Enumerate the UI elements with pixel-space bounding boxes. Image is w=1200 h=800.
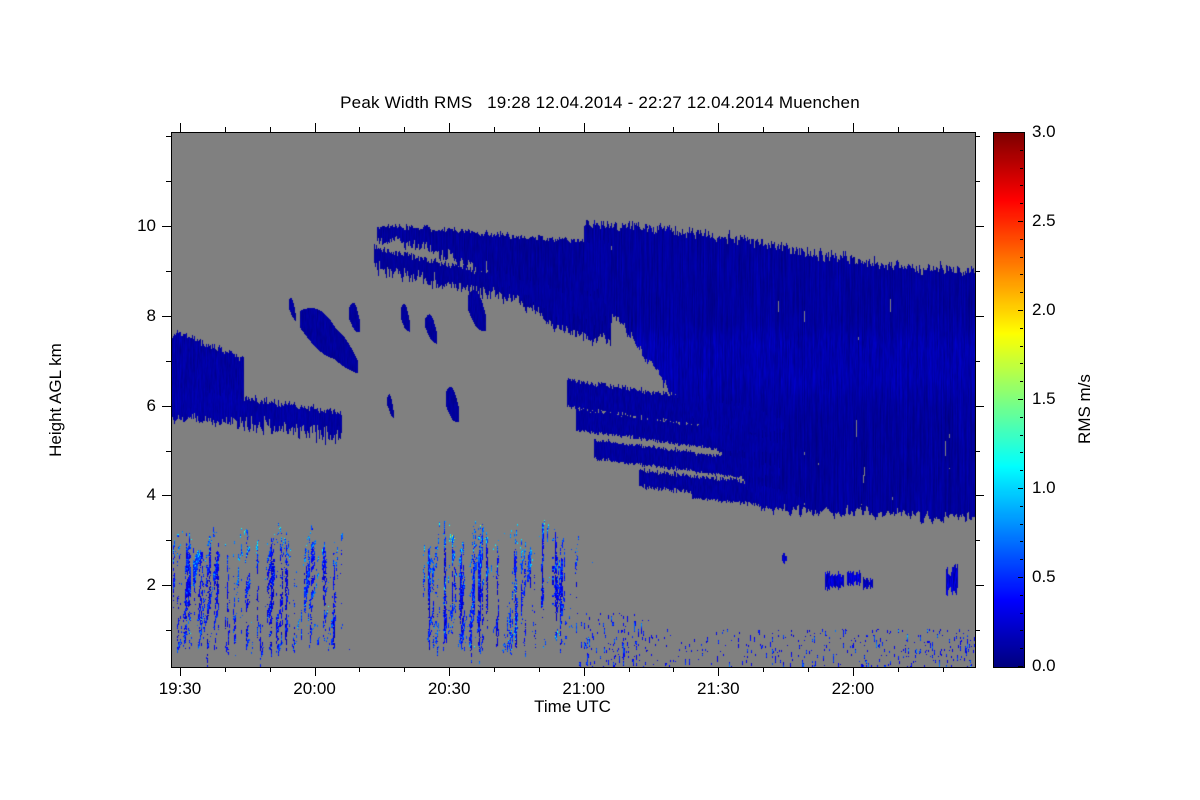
y-tick-minor-right: [975, 181, 980, 182]
x-tick-major-top: [584, 123, 585, 132]
y-tick-label: 10: [101, 216, 156, 236]
x-tick-major-top: [449, 123, 450, 132]
colorbar-tick-label: 0.5: [1032, 567, 1056, 587]
colorbar-tick: [1018, 399, 1023, 400]
x-tick-minor-top: [943, 127, 944, 132]
x-tick-minor-top: [539, 127, 540, 132]
figure-canvas: Peak Width RMS 19:28 12.04.2014 - 22:27 …: [0, 0, 1200, 800]
colorbar-tick-minor: [1020, 595, 1023, 596]
x-tick-minor-top: [404, 127, 405, 132]
x-tick-major-top: [718, 123, 719, 132]
colorbar-tick-label: 2.0: [1032, 300, 1056, 320]
x-tick-label: 21:30: [697, 679, 740, 699]
y-tick-minor-right: [975, 451, 980, 452]
x-tick-minor-top: [270, 127, 271, 132]
y-tick-minor: [166, 136, 171, 137]
x-tick-label: 20:30: [428, 679, 471, 699]
colorbar-tick-label: 3.0: [1032, 122, 1056, 142]
y-tick-major-right: [975, 585, 984, 586]
x-tick-major-top: [315, 123, 316, 132]
y-tick-minor: [166, 451, 171, 452]
x-tick-minor-top: [225, 127, 226, 132]
colorbar-tick-minor: [1020, 559, 1023, 560]
x-tick-major: [853, 667, 854, 676]
y-tick-minor: [166, 181, 171, 182]
y-tick-label: 2: [101, 575, 156, 595]
colorbar-tick: [1018, 132, 1023, 133]
colorbar-tick-label: 1.0: [1032, 478, 1056, 498]
colorbar-tick-minor: [1020, 274, 1023, 275]
x-axis-label: Time UTC: [171, 697, 974, 717]
x-tick-label: 20:00: [293, 679, 336, 699]
colorbar-tick-minor: [1020, 524, 1023, 525]
y-tick-label: 6: [101, 396, 156, 416]
colorbar-tick-minor: [1020, 470, 1023, 471]
colorbar-gradient: [994, 133, 1024, 667]
x-tick-minor: [808, 667, 809, 672]
heatmap-plot-area: [171, 132, 976, 668]
colorbar-tick: [1018, 488, 1023, 489]
colorbar-tick: [1018, 221, 1023, 222]
x-tick-major: [449, 667, 450, 676]
x-tick-minor: [673, 667, 674, 672]
x-tick-minor: [359, 667, 360, 672]
colorbar-tick-minor: [1020, 613, 1023, 614]
x-tick-label: 19:30: [159, 679, 202, 699]
y-tick-minor: [166, 271, 171, 272]
colorbar-tick-minor: [1020, 417, 1023, 418]
colorbar-tick-minor: [1020, 435, 1023, 436]
y-tick-major-right: [975, 316, 984, 317]
x-tick-label: 22:00: [832, 679, 875, 699]
colorbar-tick-minor: [1020, 648, 1023, 649]
colorbar-tick-minor: [1020, 452, 1023, 453]
x-tick-minor: [943, 667, 944, 672]
y-tick-minor: [166, 540, 171, 541]
x-tick-minor: [270, 667, 271, 672]
x-tick-minor: [539, 667, 540, 672]
y-tick-minor-right: [975, 136, 980, 137]
x-tick-label: 21:00: [562, 679, 605, 699]
x-tick-minor: [404, 667, 405, 672]
colorbar-tick-minor: [1020, 203, 1023, 204]
x-tick-minor: [898, 667, 899, 672]
colorbar-tick-label: 1.5: [1032, 389, 1056, 409]
y-tick-major-right: [975, 406, 984, 407]
y-tick-minor-right: [975, 271, 980, 272]
y-tick-minor: [166, 361, 171, 362]
colorbar-tick-minor: [1020, 381, 1023, 382]
x-tick-minor: [629, 667, 630, 672]
x-tick-minor: [225, 667, 226, 672]
colorbar-tick-label: 2.5: [1032, 211, 1056, 231]
y-tick-minor-right: [975, 630, 980, 631]
colorbar-tick-minor: [1020, 292, 1023, 293]
y-tick-label: 4: [101, 485, 156, 505]
colorbar-tick-minor: [1020, 541, 1023, 542]
colorbar: [993, 132, 1025, 668]
x-tick-major-top: [180, 123, 181, 132]
colorbar-tick-minor: [1020, 346, 1023, 347]
x-tick-minor-top: [629, 127, 630, 132]
x-tick-minor-top: [673, 127, 674, 132]
x-tick-minor-top: [359, 127, 360, 132]
colorbar-tick: [1018, 310, 1023, 311]
colorbar-tick-minor: [1020, 239, 1023, 240]
colorbar-tick-label: 0.0: [1032, 656, 1056, 676]
x-tick-minor-top: [494, 127, 495, 132]
y-tick-major-right: [975, 495, 984, 496]
colorbar-tick-minor: [1020, 168, 1023, 169]
x-tick-minor-top: [763, 127, 764, 132]
y-tick-minor-right: [975, 540, 980, 541]
colorbar-tick-minor: [1020, 506, 1023, 507]
colorbar-tick-minor: [1020, 257, 1023, 258]
y-tick-minor: [166, 630, 171, 631]
colorbar-tick-minor: [1020, 328, 1023, 329]
x-tick-minor-top: [898, 127, 899, 132]
colorbar-tick-minor: [1020, 150, 1023, 151]
y-axis-label: Height AGL km: [46, 270, 66, 530]
y-tick-major: [162, 226, 171, 227]
y-tick-major-right: [975, 226, 984, 227]
y-tick-major: [162, 316, 171, 317]
x-tick-minor: [763, 667, 764, 672]
colorbar-tick: [1018, 577, 1023, 578]
colorbar-tick: [1018, 666, 1023, 667]
colorbar-tick-minor: [1020, 363, 1023, 364]
x-tick-minor: [494, 667, 495, 672]
y-tick-minor-right: [975, 361, 980, 362]
x-tick-major: [180, 667, 181, 676]
y-tick-major: [162, 495, 171, 496]
x-tick-major-top: [853, 123, 854, 132]
y-tick-major: [162, 406, 171, 407]
y-tick-major: [162, 585, 171, 586]
colorbar-tick-minor: [1020, 185, 1023, 186]
y-tick-label: 8: [101, 306, 156, 326]
colorbar-tick-minor: [1020, 630, 1023, 631]
x-tick-major: [718, 667, 719, 676]
x-tick-major: [315, 667, 316, 676]
heatmap-image: [172, 133, 975, 667]
chart-title: Peak Width RMS 19:28 12.04.2014 - 22:27 …: [0, 93, 1200, 113]
colorbar-label: RMS m/s: [1075, 279, 1095, 539]
x-tick-minor-top: [808, 127, 809, 132]
x-tick-major: [584, 667, 585, 676]
